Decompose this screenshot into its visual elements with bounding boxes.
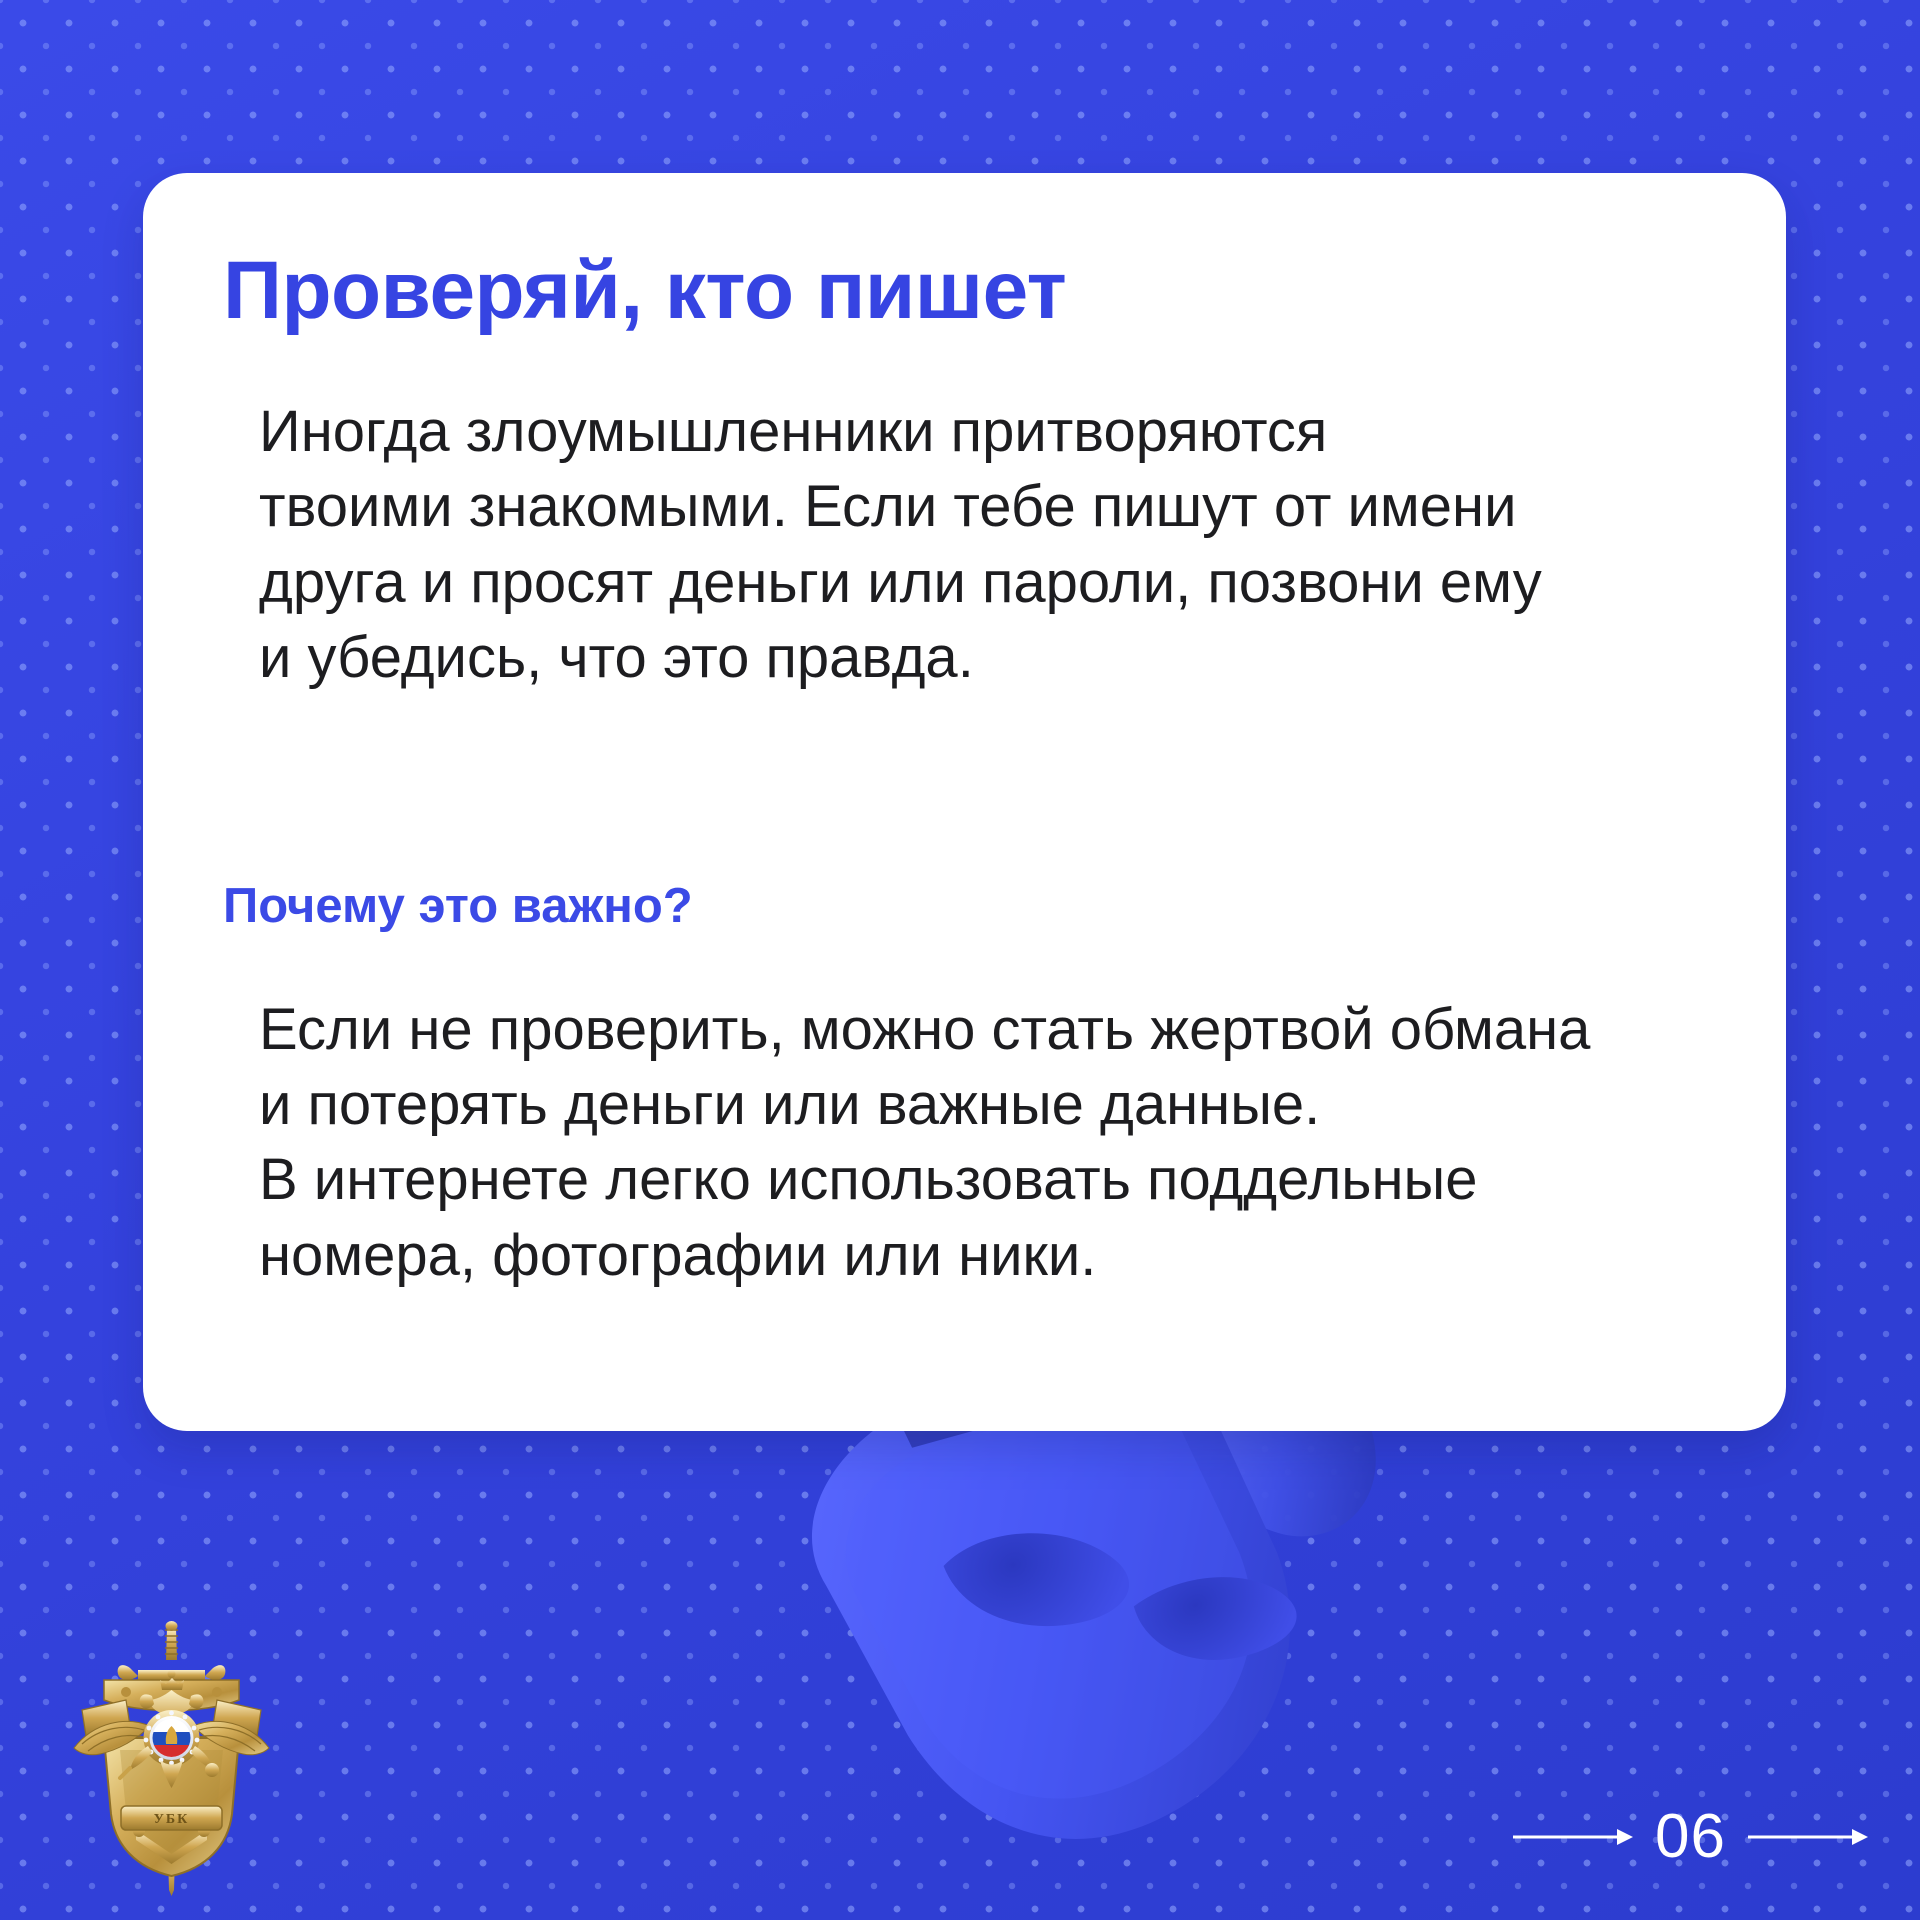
fsb-ubk-emblem-icon: УБК — [64, 1618, 279, 1898]
intro-line-2: твоими знакомыми. Если тебе пишут от име… — [259, 469, 1746, 544]
why-line-2: и потерять деньги или важные данные. — [259, 1067, 1746, 1142]
page-title: Проверяй, кто пишет — [223, 248, 1746, 334]
arrow-right-icon-2 — [1748, 1825, 1868, 1849]
why-line-3: В интернете легко использовать поддельны… — [259, 1142, 1746, 1217]
arrow-right-icon — [1513, 1825, 1633, 1849]
content-card: Проверяй, кто пишет Иногда злоумышленник… — [143, 173, 1786, 1431]
intro-paragraph: Иногда злоумышленники притворяются твоим… — [259, 394, 1746, 696]
page-number: 06 — [1655, 1806, 1726, 1868]
intro-line-4: и убедись, что это правда. — [259, 620, 1746, 695]
section-subtitle: Почему это важно? — [223, 696, 1746, 934]
why-line-1: Если не проверить, можно стать жертвой о… — [259, 992, 1746, 1067]
slide-root: Проверяй, кто пишет Иногда злоумышленник… — [0, 0, 1920, 1920]
intro-line-1: Иногда злоумышленники притворяются — [259, 394, 1746, 469]
emblem-banner-text: УБК — [154, 1812, 190, 1827]
why-paragraph: Если не проверить, можно стать жертвой о… — [259, 992, 1746, 1294]
why-line-4: номера, фотографии или ники. — [259, 1218, 1746, 1293]
intro-line-3: друга и просят деньги или пароли, позвон… — [259, 545, 1746, 620]
page-indicator: 06 — [1513, 1802, 1868, 1872]
